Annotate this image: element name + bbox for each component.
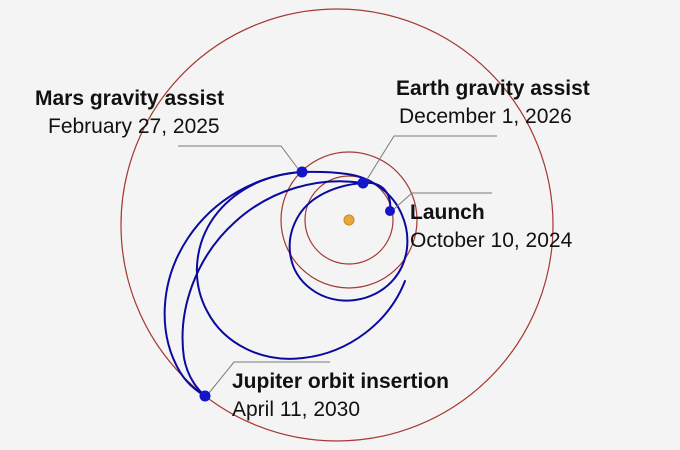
sun-marker bbox=[344, 215, 354, 225]
marker-launch bbox=[385, 206, 395, 216]
jupiter-orbit-insertion-title: Jupiter orbit insertion bbox=[232, 370, 449, 393]
launch-date: October 10, 2024 bbox=[410, 229, 573, 252]
mars-gravity-assist-title: Mars gravity assist bbox=[35, 87, 224, 110]
earth-gravity-assist-title: Earth gravity assist bbox=[396, 77, 590, 100]
trajectory-diagram: Mars gravity assist February 27, 2025 Ea… bbox=[0, 0, 680, 450]
mars-gravity-assist-date: February 27, 2025 bbox=[48, 115, 220, 138]
marker-earth-gravity-assist bbox=[358, 178, 369, 189]
jupiter-orbit-insertion-date: April 11, 2030 bbox=[232, 398, 360, 421]
marker-mars-gravity-assist bbox=[297, 167, 308, 178]
earth-gravity-assist-date: December 1, 2026 bbox=[399, 105, 572, 128]
marker-jupiter-orbit-insertion bbox=[200, 391, 211, 402]
launch-title: Launch bbox=[410, 201, 485, 224]
